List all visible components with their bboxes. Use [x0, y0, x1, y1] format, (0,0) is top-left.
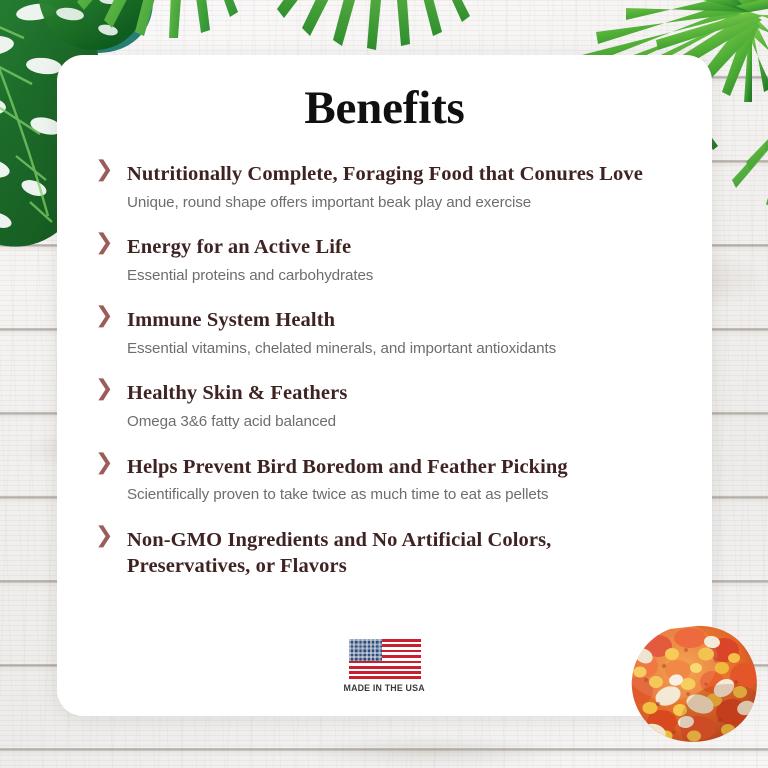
chevron-right-icon: ❯	[95, 378, 113, 400]
chevron-right-icon: ❯	[95, 305, 113, 327]
poster-canvas: Benefits ❯ Nutritionally Complete, Forag…	[0, 0, 768, 768]
benefit-title: Healthy Skin & Feathers	[127, 380, 666, 407]
benefit-title: Immune System Health	[127, 307, 666, 334]
chevron-right-icon: ❯	[95, 232, 113, 254]
benefit-title: Energy for an Active Life	[127, 234, 666, 261]
chevron-right-icon: ❯	[95, 525, 113, 547]
list-item[interactable]: ❯ Energy for an Active Life Essential pr…	[95, 234, 666, 286]
benefit-subtitle: Scientifically proven to take twice as m…	[127, 485, 666, 506]
benefit-subtitle: Unique, round shape offers important bea…	[127, 193, 666, 214]
list-item[interactable]: ❯ Helps Prevent Bird Boredom and Feather…	[95, 454, 666, 506]
flag-stars-icon	[349, 639, 382, 661]
benefit-title: Helps Prevent Bird Boredom and Feather P…	[127, 454, 666, 481]
list-item[interactable]: ❯ Immune System Health Essential vitamin…	[95, 307, 666, 359]
list-item[interactable]: ❯ Nutritionally Complete, Foraging Food …	[95, 161, 666, 213]
benefit-title: Nutritionally Complete, Foraging Food th…	[127, 161, 666, 188]
list-item[interactable]: ❯ Healthy Skin & Feathers Omega 3&6 fatt…	[95, 380, 666, 432]
usa-flag-icon	[349, 639, 421, 679]
benefit-subtitle: Essential proteins and carbohydrates	[127, 266, 666, 287]
benefit-title: Non-GMO Ingredients and No Artificial Co…	[127, 527, 586, 580]
page-title: Benefits	[57, 81, 712, 135]
benefit-subtitle: Omega 3&6 fatty acid balanced	[127, 412, 666, 433]
chevron-right-icon: ❯	[95, 452, 113, 474]
made-in-usa-label: MADE IN THE USA	[344, 683, 425, 694]
benefits-list: ❯ Nutritionally Complete, Foraging Food …	[57, 161, 712, 580]
made-in-usa-badge: MADE IN THE USA	[57, 639, 712, 694]
chevron-right-icon: ❯	[95, 159, 113, 181]
flag-canton	[349, 639, 382, 661]
benefits-card: Benefits ❯ Nutritionally Complete, Forag…	[57, 55, 712, 716]
list-item[interactable]: ❯ Non-GMO Ingredients and No Artificial …	[95, 527, 666, 580]
benefit-subtitle: Essential vitamins, chelated minerals, a…	[127, 339, 666, 360]
